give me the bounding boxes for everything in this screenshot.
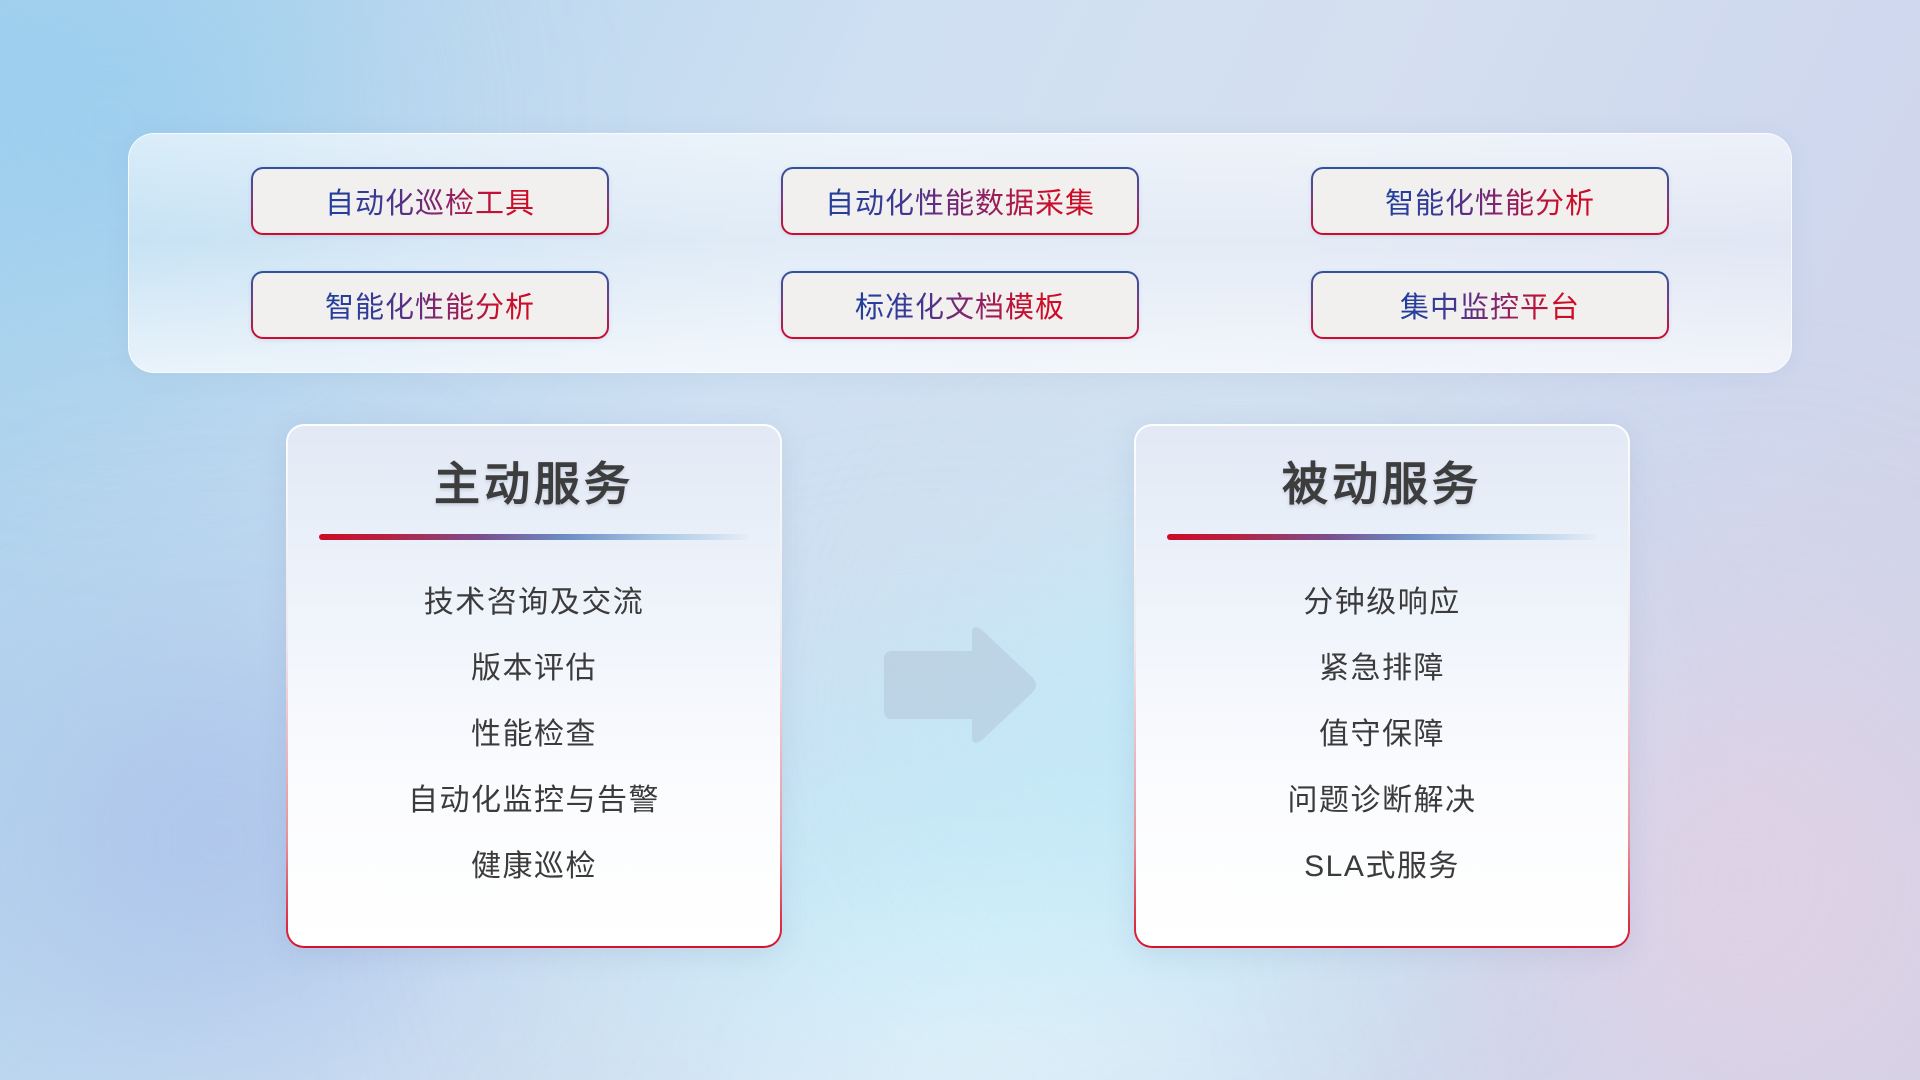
list-item: 性能检查 [471, 702, 597, 768]
capability-panel: 自动化巡检工具 自动化性能数据采集 智能化性能分析 智能化性能分析 标准化文档模… [128, 133, 1792, 373]
card-divider [1167, 534, 1597, 540]
card-list: 技术咨询及交流 版本评估 性能检查 自动化监控与告警 健康巡检 [314, 570, 754, 919]
card-title: 被动服务 [1282, 456, 1482, 514]
capability-pill-standardized-document-template[interactable]: 标准化文档模板 [781, 271, 1139, 339]
capability-pill-label: 自动化性能数据采集 [825, 180, 1095, 222]
list-item: 值守保障 [1319, 702, 1445, 768]
list-item: 版本评估 [471, 636, 597, 702]
capability-pill-label: 智能化性能分析 [1385, 180, 1595, 222]
card-inner: 主动服务 技术咨询及交流 版本评估 性能检查 自动化监控与告警 健康巡检 [288, 426, 780, 946]
capability-pill-intelligent-performance-analysis-bottom[interactable]: 智能化性能分析 [251, 271, 609, 339]
capability-pill-label: 智能化性能分析 [325, 284, 535, 326]
capability-pill-label: 集中监控平台 [1400, 284, 1580, 326]
pill-inner: 自动化性能数据采集 [783, 169, 1137, 233]
card-inner: 被动服务 分钟级响应 紧急排障 值守保障 问题诊断解决 SLA式服务 [1136, 426, 1628, 946]
pill-inner: 集中监控平台 [1313, 273, 1667, 337]
list-item: 分钟级响应 [1303, 570, 1461, 636]
capability-pill-intelligent-performance-analysis-top[interactable]: 智能化性能分析 [1311, 167, 1669, 235]
card-title: 主动服务 [434, 456, 634, 514]
capability-pill-centralized-monitoring-platform[interactable]: 集中监控平台 [1311, 271, 1669, 339]
capability-pill-automated-performance-data-collection[interactable]: 自动化性能数据采集 [781, 167, 1139, 235]
pill-inner: 自动化巡检工具 [253, 169, 607, 233]
pill-inner: 智能化性能分析 [253, 273, 607, 337]
pill-inner: 智能化性能分析 [1313, 169, 1667, 233]
pill-inner: 标准化文档模板 [783, 273, 1137, 337]
list-item: 问题诊断解决 [1288, 768, 1477, 834]
card-list: 分钟级响应 紧急排障 值守保障 问题诊断解决 SLA式服务 [1162, 570, 1602, 919]
list-item: 紧急排障 [1319, 636, 1445, 702]
list-item: 技术咨询及交流 [424, 570, 645, 636]
capability-pill-label: 标准化文档模板 [855, 284, 1065, 326]
list-item: 自动化监控与告警 [408, 768, 660, 834]
list-item: 健康巡检 [471, 834, 597, 900]
service-card-proactive[interactable]: 主动服务 技术咨询及交流 版本评估 性能检查 自动化监控与告警 健康巡检 [286, 424, 782, 948]
capability-pill-label: 自动化巡检工具 [325, 180, 535, 222]
service-card-reactive[interactable]: 被动服务 分钟级响应 紧急排障 值守保障 问题诊断解决 SLA式服务 [1134, 424, 1630, 948]
card-divider [319, 534, 749, 540]
capability-pill-automated-inspection-tool[interactable]: 自动化巡检工具 [251, 167, 609, 235]
right-arrow-icon [876, 623, 1040, 747]
list-item: SLA式服务 [1304, 834, 1460, 900]
